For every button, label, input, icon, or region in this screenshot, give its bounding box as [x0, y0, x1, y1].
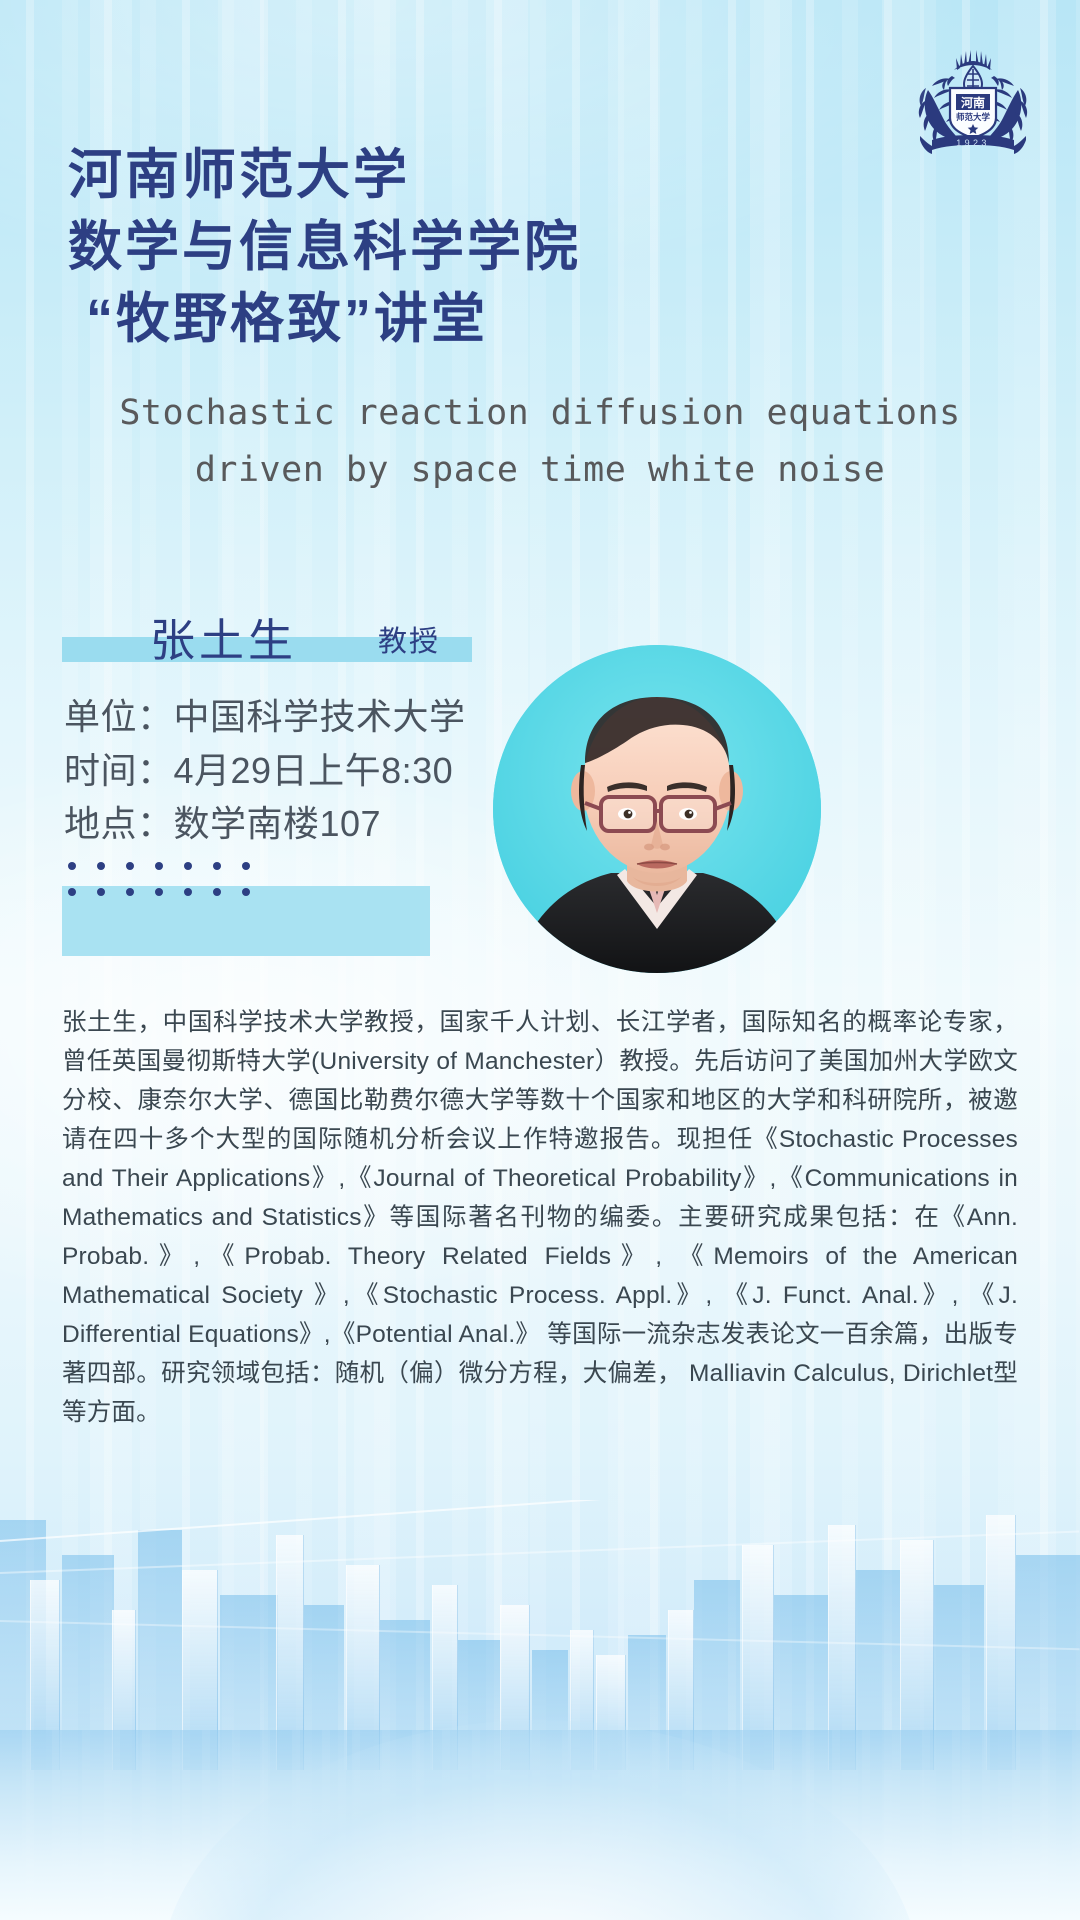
dot — [97, 862, 105, 870]
dot — [184, 888, 192, 896]
dot — [213, 888, 221, 896]
speaker-name: 张土生 — [150, 604, 297, 669]
dot — [68, 888, 76, 896]
dot-row — [68, 862, 250, 870]
cityscape-illustration — [0, 1500, 1080, 1920]
dot — [97, 888, 105, 896]
detail-value-affiliation: 中国科学技术大学 — [174, 696, 466, 737]
dot — [68, 862, 76, 870]
dot — [155, 862, 163, 870]
crest-shield-subname: 师范大学 — [956, 112, 991, 122]
heading-line-lecture-series: “牧野格致”讲堂 — [68, 284, 948, 356]
heading-line-school: 数学与信息科学学院 — [68, 212, 948, 284]
decorative-dot-grid — [68, 862, 250, 914]
detail-value-time: 4月29日上午8:30 — [174, 750, 454, 791]
dot — [126, 888, 134, 896]
dot — [126, 862, 134, 870]
detail-row-location: 地点：数学南楼107 — [64, 797, 534, 851]
dot — [184, 862, 192, 870]
dot — [242, 888, 250, 896]
detail-row-affiliation: 单位：中国科学技术大学 — [64, 690, 534, 744]
detail-value-location: 数学南楼107 — [174, 803, 382, 844]
institution-heading: 河南师范大学 数学与信息科学学院 “牧野格致”讲堂 — [68, 140, 948, 355]
dot — [213, 862, 221, 870]
speaker-academic-title: 教授 — [378, 618, 440, 660]
poster-canvas: 河南 师范大学 1923 河南师范大学 数学与信息科学学院 “牧野格致”讲堂 S… — [0, 0, 1080, 1920]
detail-label-time: 时间： — [64, 750, 174, 791]
heading-line-university: 河南师范大学 — [68, 140, 948, 212]
crest-shield-name: 河南 — [960, 95, 985, 110]
detail-row-time: 时间：4月29日上午8:30 — [64, 744, 534, 798]
lecture-details-list: 单位：中国科学技术大学 时间：4月29日上午8:30 地点：数学南楼107 — [64, 690, 534, 851]
english-lecture-title: Stochastic reaction diffusion equations … — [60, 385, 1020, 498]
detail-label-location: 地点： — [64, 803, 174, 844]
speaker-biography: 张土生，中国科学技术大学教授，国家千人计划、长江学者，国际知名的概率论专家，曾任… — [62, 1003, 1018, 1432]
crest-founding-year: 1923 — [956, 138, 990, 148]
university-crest-logo: 河南 师范大学 1923 — [914, 36, 1032, 154]
speaker-portrait-photo — [493, 645, 821, 973]
dot — [242, 862, 250, 870]
dot-row — [68, 888, 250, 896]
dot — [155, 888, 163, 896]
detail-label-affiliation: 单位： — [64, 696, 174, 737]
